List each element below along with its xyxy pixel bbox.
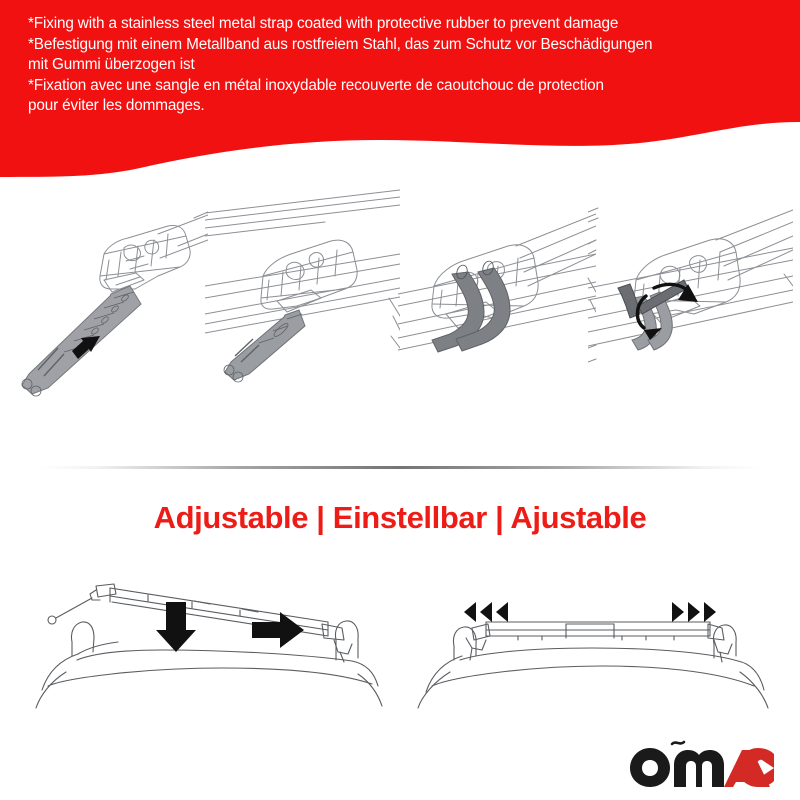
roof-diagram-left (22, 560, 392, 710)
logo-letter-m (674, 750, 724, 787)
section-heading: Adjustable | Einstellbar | Ajustable (0, 500, 800, 536)
roof-diagram-right (402, 560, 784, 710)
product-infographic-page: *Fixing with a stainless steel metal str… (0, 0, 800, 800)
tilde-mark (672, 742, 684, 744)
roof-install-illustration (22, 560, 392, 710)
omac-logo-mark (628, 736, 778, 788)
assembly-step-2 (205, 188, 400, 443)
triple-left-arrow (464, 602, 508, 622)
red-banner: *Fixing with a stainless steel metal str… (0, 0, 800, 185)
step-3-illustration (398, 188, 596, 443)
omac-logo (628, 736, 778, 788)
roof-adjust-illustration (402, 560, 784, 710)
assembly-steps-row (0, 188, 800, 443)
assembly-step-4 (588, 188, 793, 443)
step-4-illustration (588, 188, 793, 443)
step-1-illustration (8, 188, 208, 443)
roof-diagrams-row (0, 560, 800, 720)
section-divider (40, 466, 760, 469)
assembly-step-1 (8, 188, 208, 443)
step-2-illustration (205, 188, 400, 443)
logo-letter-o (630, 748, 670, 787)
banner-description-text: *Fixing with a stainless steel metal str… (28, 14, 788, 117)
assembly-step-3 (398, 188, 596, 443)
triple-right-arrow (672, 602, 716, 622)
